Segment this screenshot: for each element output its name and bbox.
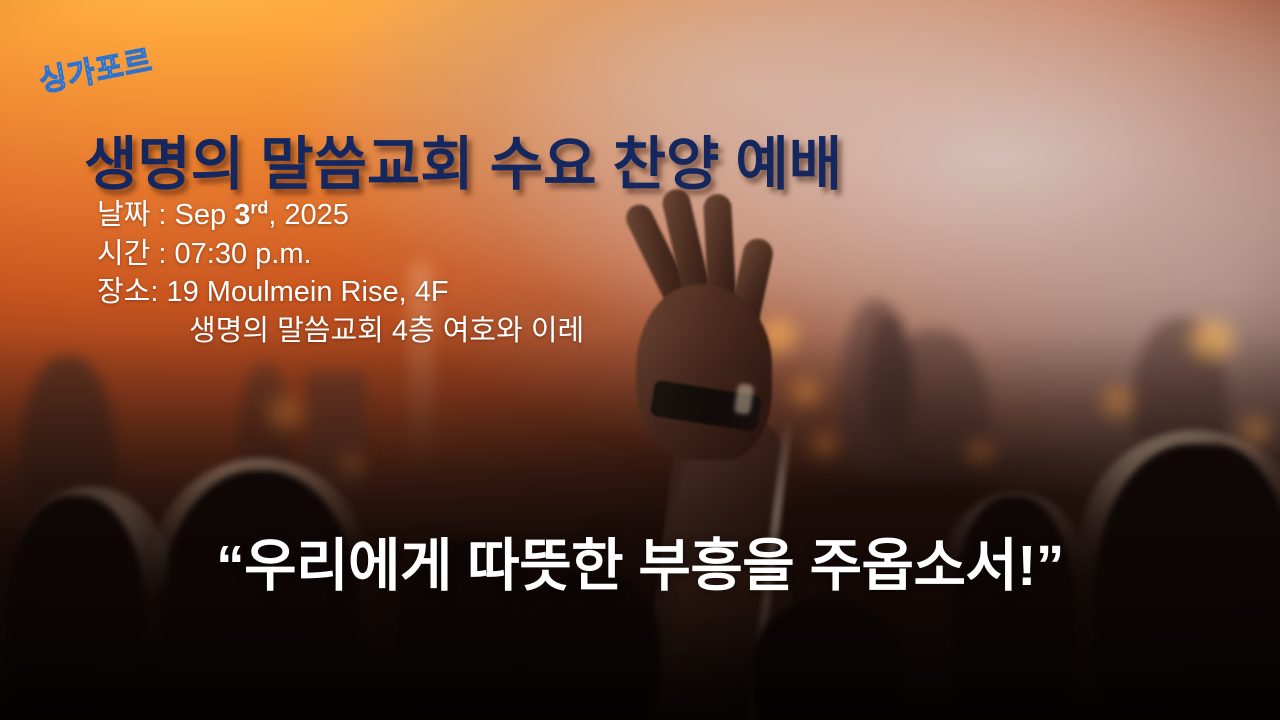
page-title: 생명의 말씀교회 수요 찬양 예배 (84, 117, 842, 201)
info-line-date: 날짜 : Sep 3rd, 2025 (97, 196, 584, 235)
date-ordinal-number: 3 (234, 199, 250, 231)
info-line-place: 장소: 19 Moulmein Rise, 4F (97, 273, 584, 312)
presentation-slide: 싱가포르 생명의 말씀교회 수요 찬양 예배 날짜 : Sep 3rd, 202… (0, 0, 1280, 720)
date-label: 날짜 : Sep (97, 199, 234, 231)
date-year: , 2025 (268, 199, 349, 231)
info-line-time: 시간 : 07:30 p.m. (97, 235, 584, 274)
theme-quote: “우리에게 따뜻한 부흥을 주옵소서!” (0, 520, 1280, 602)
info-line-place-detail: 생명의 말씀교회 4층 여호와 이레 (97, 312, 584, 351)
background-vignette (0, 0, 1280, 720)
event-info-block: 날짜 : Sep 3rd, 2025 시간 : 07:30 p.m. 장소: 1… (97, 196, 584, 350)
date-ordinal-suffix: rd (250, 197, 268, 217)
